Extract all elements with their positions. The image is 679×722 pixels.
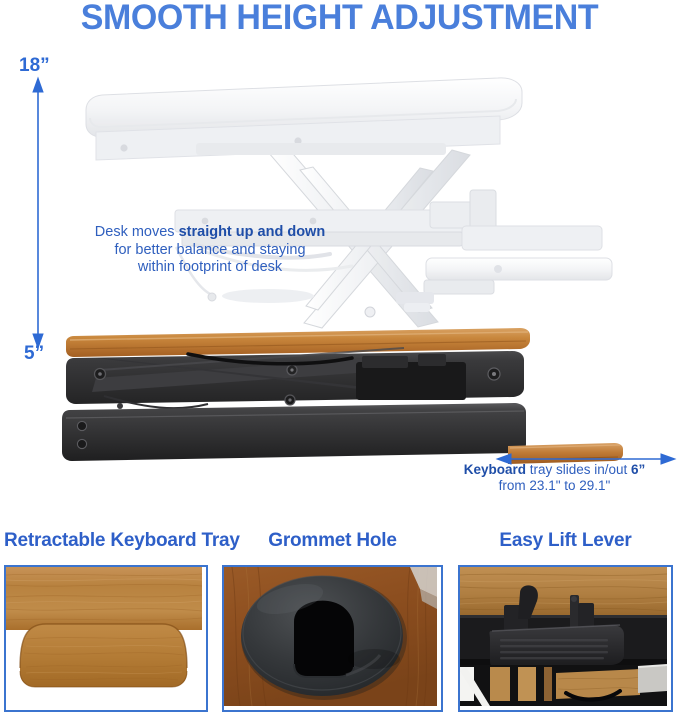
desk-movement-note: Desk moves straight up and down for bett… xyxy=(60,224,360,277)
keyboard-travel-note: Keyboard tray slides in/out 6” from 23.1… xyxy=(430,462,679,494)
height-label-min: 5” xyxy=(24,343,44,365)
lowered-desk-solid xyxy=(62,328,623,464)
feature-title-2: Easy Lift Lever xyxy=(458,528,673,554)
keyboard-tray-photo xyxy=(4,565,208,712)
height-label-max: 18” xyxy=(19,55,50,77)
desk-note-line2: for better balance and staying xyxy=(114,242,305,258)
easy-lift-lever-photo xyxy=(458,565,673,712)
feature-title-0: Retractable Keyboard Tray xyxy=(4,528,208,554)
desk-note-line1-plain: Desk moves xyxy=(95,224,179,240)
raised-desk-ghost xyxy=(86,78,612,328)
kb-note-strong-end: 6” xyxy=(631,462,645,477)
desk-note-line1-strong: straight up and down xyxy=(179,224,326,240)
feature-title-1: Grommet Hole xyxy=(222,528,443,554)
infographic-page: SMOOTH HEIGHT ADJUSTMENT xyxy=(0,0,679,722)
feature-retractable-keyboard-tray: Retractable Keyboard Tray xyxy=(4,528,208,712)
page-title: SMOOTH HEIGHT ADJUSTMENT xyxy=(10,0,669,38)
feature-grommet-hole: Grommet Hole xyxy=(222,528,443,712)
feature-easy-lift-lever: Easy Lift Lever xyxy=(458,528,673,712)
kb-note-strong-start: Keyboard xyxy=(464,462,526,477)
hero-illustration xyxy=(0,40,679,520)
kb-note-plain: tray slides in/out xyxy=(526,462,631,477)
feature-panels: Retractable Keyboard Tray xyxy=(0,528,679,722)
grommet-hole-photo xyxy=(222,565,443,712)
kb-note-line2: from 23.1" to 29.1" xyxy=(499,478,611,493)
desk-note-line3: within footprint of desk xyxy=(138,259,282,275)
